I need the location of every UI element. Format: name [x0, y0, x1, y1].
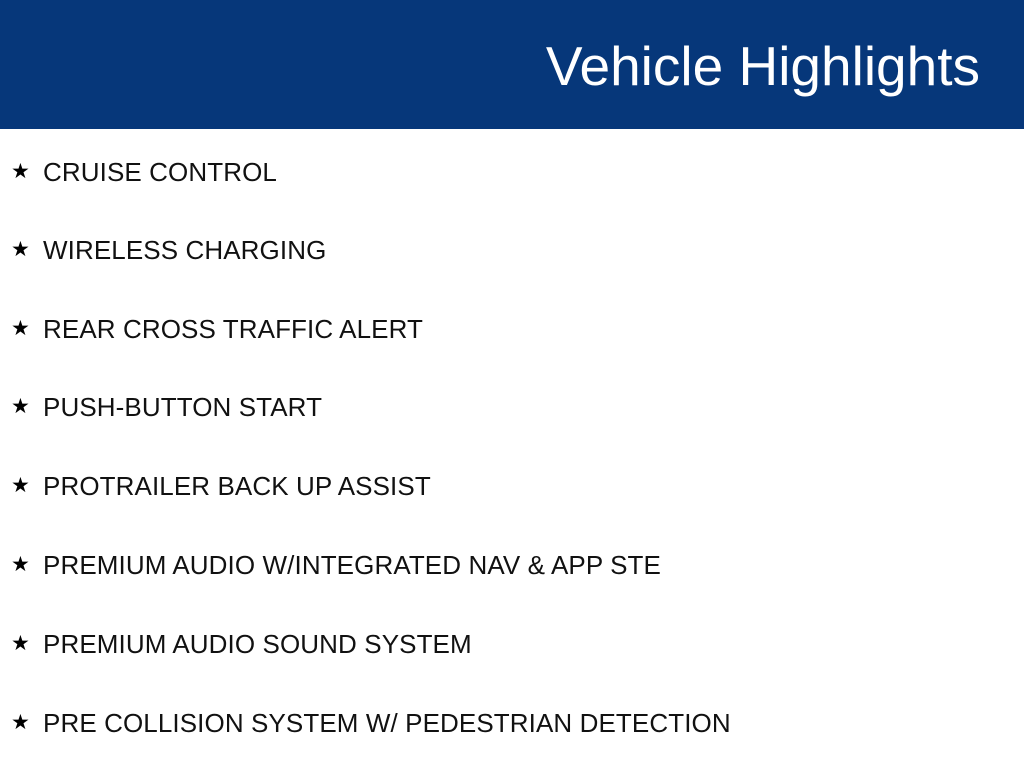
star-icon: ★: [11, 475, 43, 496]
star-icon: ★: [11, 554, 43, 575]
list-item: ★ CRUISE CONTROL: [0, 152, 1024, 192]
list-item: ★ PRE COLLISION SYSTEM W/ PEDESTRIAN DET…: [0, 703, 1024, 743]
list-item: ★ PREMIUM AUDIO SOUND SYSTEM: [0, 624, 1024, 664]
star-icon: ★: [11, 239, 43, 260]
list-item: ★ PUSH-BUTTON START: [0, 387, 1024, 427]
highlight-label: PUSH-BUTTON START: [43, 394, 322, 420]
star-icon: ★: [11, 633, 43, 654]
star-icon: ★: [11, 712, 43, 733]
list-item: ★ WIRELESS CHARGING: [0, 230, 1024, 270]
highlight-label: PROTRAILER BACK UP ASSIST: [43, 473, 431, 499]
vehicle-highlights-slide: Vehicle Highlights ★ CRUISE CONTROL ★ WI…: [0, 0, 1024, 768]
vehicle-highlights-list: ★ CRUISE CONTROL ★ WIRELESS CHARGING ★ R…: [0, 129, 1024, 768]
header-band: Vehicle Highlights: [0, 0, 1024, 129]
highlight-label: REAR CROSS TRAFFIC ALERT: [43, 316, 423, 342]
highlight-label: PREMIUM AUDIO W/INTEGRATED NAV & APP STE: [43, 552, 661, 578]
page-title: Vehicle Highlights: [546, 39, 980, 94]
highlight-label: CRUISE CONTROL: [43, 159, 277, 185]
star-icon: ★: [11, 161, 43, 182]
highlight-label: PRE COLLISION SYSTEM W/ PEDESTRIAN DETEC…: [43, 710, 731, 736]
star-icon: ★: [11, 318, 43, 339]
list-item: ★ PREMIUM AUDIO W/INTEGRATED NAV & APP S…: [0, 545, 1024, 585]
highlight-label: WIRELESS CHARGING: [43, 237, 326, 263]
star-icon: ★: [11, 396, 43, 417]
highlight-label: PREMIUM AUDIO SOUND SYSTEM: [43, 631, 472, 657]
list-item: ★ PROTRAILER BACK UP ASSIST: [0, 466, 1024, 506]
list-item: ★ REAR CROSS TRAFFIC ALERT: [0, 309, 1024, 349]
